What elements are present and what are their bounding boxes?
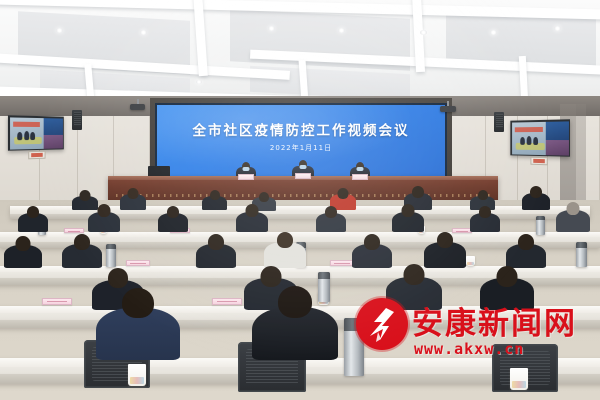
attendee — [62, 234, 102, 268]
attendee — [236, 204, 268, 232]
attendee-foreground-navy — [96, 288, 180, 360]
paper-cup — [510, 368, 528, 390]
attendee-foreground-dark — [252, 286, 338, 360]
attendee — [158, 206, 188, 232]
attendee — [506, 234, 546, 268]
ceiling-downlight — [196, 80, 202, 84]
watermark-url: www.akxw.cn — [414, 340, 524, 358]
monitor-wall-plaque — [28, 151, 45, 160]
attendee-white-coat — [264, 232, 306, 268]
ceiling-downlight — [338, 28, 345, 33]
attendee — [196, 234, 236, 268]
ceiling-downlight — [420, 30, 427, 35]
desk-name-card — [126, 260, 150, 266]
attendee — [556, 202, 590, 232]
attendee — [352, 234, 392, 268]
name-placard — [295, 173, 311, 179]
paper-cup — [128, 364, 146, 386]
conference-photo: 全市社区疫情防控工作视频会议 2022年1月11日 — [0, 0, 600, 400]
paper-cup — [466, 256, 475, 266]
attendee — [88, 204, 120, 232]
ceiling-downlight — [268, 26, 275, 31]
attendee — [424, 232, 466, 268]
ceiling-projector-left — [130, 104, 145, 110]
desk-name-card — [212, 298, 242, 305]
desk-name-card — [330, 260, 354, 266]
ceiling-projector-right — [440, 106, 456, 112]
attendee — [18, 206, 48, 232]
bird-logo-icon — [356, 298, 408, 350]
attendee — [392, 204, 424, 232]
meeting-title: 全市社区疫情防控工作视频会议 — [157, 119, 445, 139]
ceiling-downlight — [554, 26, 561, 31]
watermark: 安康新闻网 www.akxw.cn — [356, 296, 596, 362]
video-monitor-left — [8, 115, 64, 150]
wall-speaker-right — [494, 112, 504, 132]
attendee — [316, 206, 346, 232]
podium-desk — [108, 176, 498, 202]
watermark-site-name: 安康新闻网 — [412, 298, 577, 343]
name-placard — [352, 174, 368, 180]
attendee — [470, 206, 500, 232]
ceiling-downlight — [140, 30, 147, 35]
monitor-wall-plaque — [530, 157, 547, 166]
thermos-flask — [536, 216, 545, 235]
wall-speaker-left — [72, 110, 82, 130]
meeting-date: 2022年1月11日 — [157, 143, 445, 153]
desk-name-card — [64, 228, 84, 233]
desk-name-card — [42, 298, 72, 305]
thermos-flask — [106, 244, 116, 267]
attendee — [120, 188, 146, 210]
thermos-flask — [576, 242, 587, 267]
ceiling-downlight — [490, 30, 497, 35]
name-placard — [238, 174, 254, 180]
video-monitor-right — [510, 119, 570, 156]
attendee — [522, 186, 550, 210]
ceiling-downlight — [56, 28, 63, 33]
attendee — [4, 236, 42, 268]
attendee — [202, 190, 227, 210]
